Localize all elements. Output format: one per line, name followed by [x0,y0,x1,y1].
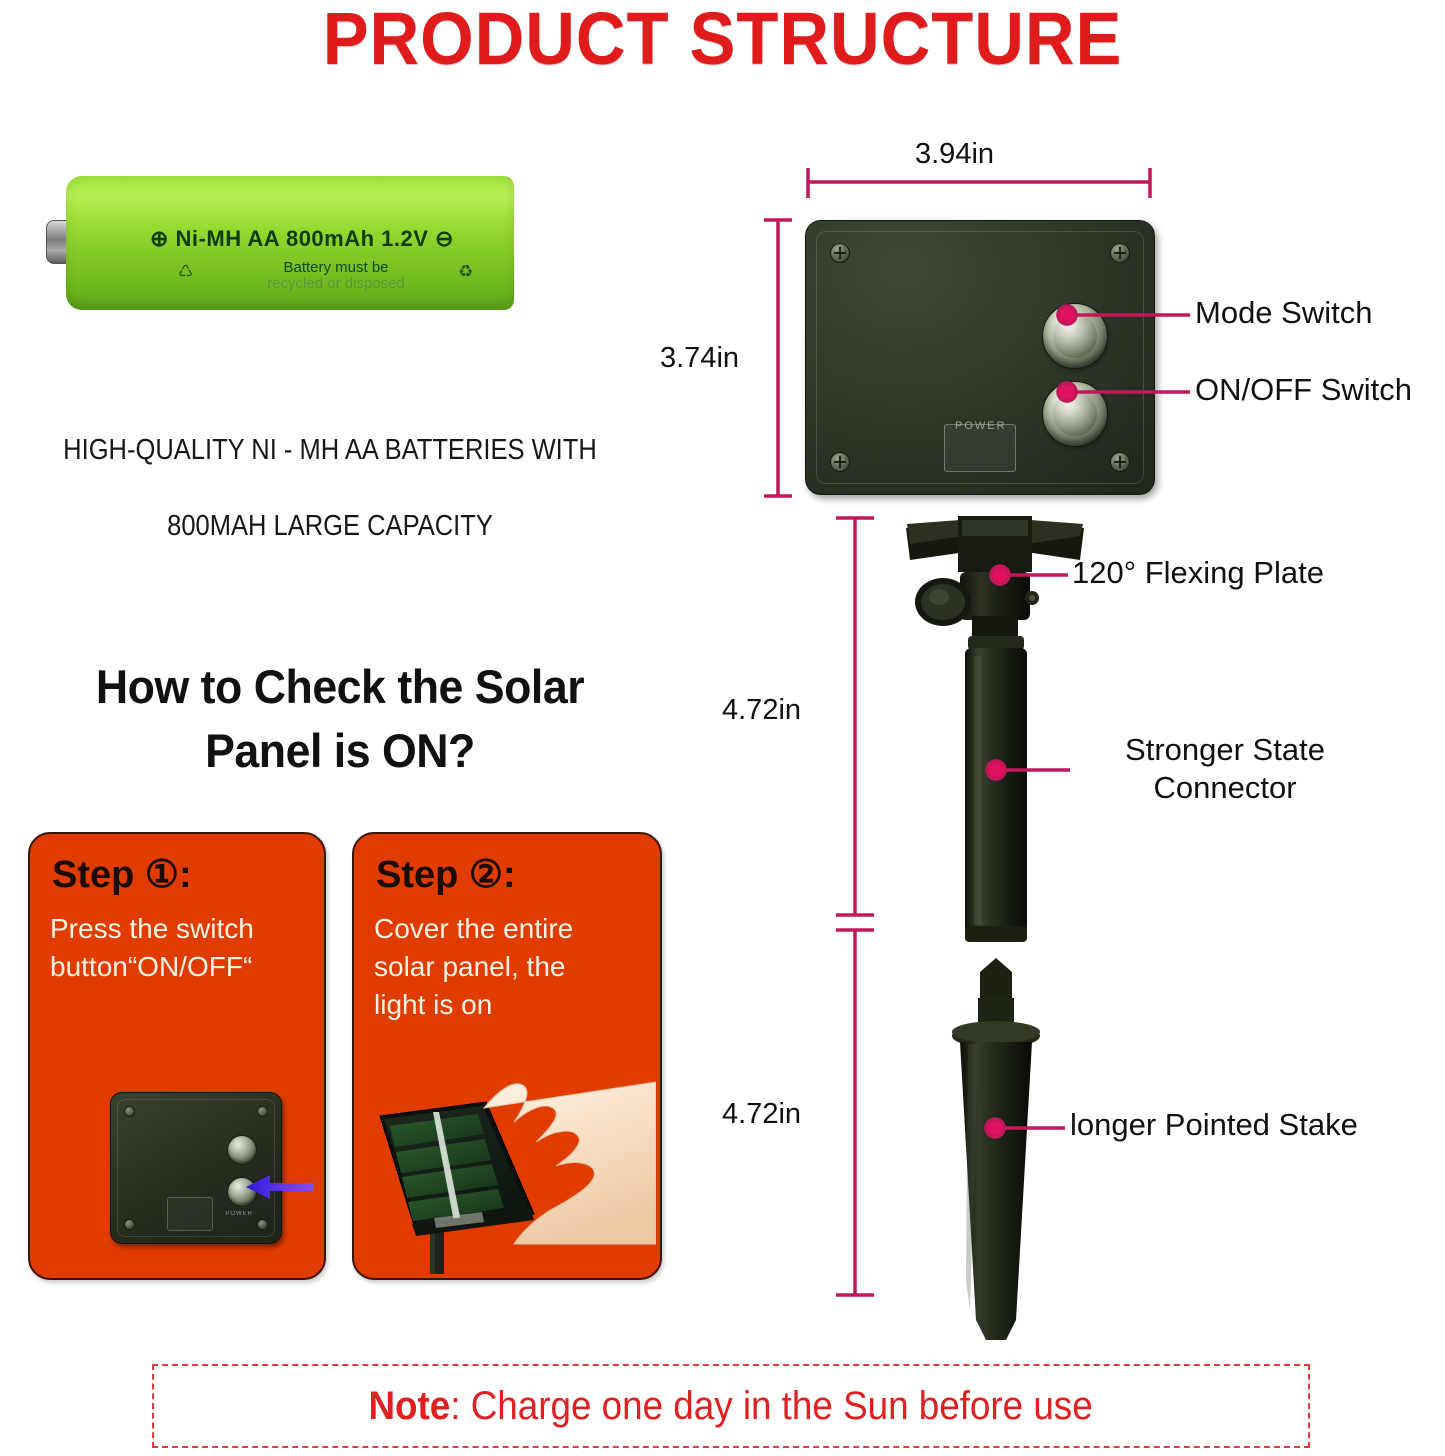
callout-onoff-switch: ON/OFF Switch [1195,371,1412,409]
callout-pointed-stake: longer Pointed Stake [1070,1106,1358,1144]
recycle-icon: ♺ [178,262,193,282]
step-1-title: Step ①: [52,852,192,897]
pole-tube [965,636,1027,942]
callout-mode-switch: Mode Switch [1195,294,1372,332]
howto-heading-line2: Panel is ON? [17,719,663,783]
battery-recycle-line2: recycled or disposed [267,275,405,292]
battery-photo: ⊕ Ni-MH AA 800mAh 1.2V ⊖ Battery must be… [38,168,518,318]
pointer-arrow-icon [244,1172,314,1202]
battery-caption-line1: HIGH-QUALITY NI - MH AA BATTERIES WITH [40,412,621,488]
howto-heading: How to Check the Solar Panel is ON? [17,655,663,783]
step-2-inset-image [364,1072,656,1274]
dimension-pole: 4.72in [722,694,801,727]
pointed-stake [952,958,1040,1340]
solar-panel-tilted-small [380,1102,534,1236]
step-1-inset-image: POWER [48,1084,310,1274]
callout-state-connector: Stronger State Connector [1075,731,1375,807]
dimension-width: 3.94in [915,138,994,171]
power-label-small: POWER [225,1211,253,1217]
battery-caption: HIGH-QUALITY NI - MH AA BATTERIES WITH 8… [40,412,621,564]
flexing-plate-bracket [906,516,1084,640]
screw-icon [124,1106,135,1117]
note-body: : Charge one day in the Sun before use [451,1384,1093,1428]
note-banner: Note: Charge one day in the Sun before u… [152,1364,1310,1448]
note-prefix: Note [369,1384,451,1428]
step-card-2: Step ②: Cover the entire solar panel, th… [352,832,662,1280]
callout-flexing-plate: 120° Flexing Plate [1072,554,1324,592]
note-text: Note: Charge one day in the Sun before u… [369,1384,1093,1429]
callout-state-connector-line2: Connector [1153,770,1296,805]
product-structure-diagram: POWER [660,120,1445,1340]
howto-heading-line1: How to Check the Solar [17,655,663,719]
step-card-1: Step ①: Press the switch button“ON/OFF“ … [28,832,326,1280]
battery-recycle-line1: Battery must be [283,259,388,276]
step-2-body-line3: light is on [374,989,492,1020]
step-2-body-line1: Cover the entire [374,913,573,944]
screw-icon [124,1219,135,1230]
battery-caption-line2: 800MAH LARGE CAPACITY [40,488,621,564]
solar-panel-back-small: POWER [110,1092,282,1244]
screw-icon [257,1106,268,1117]
screw-icon [257,1219,268,1230]
battery-compartment-slot [167,1197,213,1231]
dimension-stake: 4.72in [722,1098,801,1131]
step-1-body: Press the switch button“ON/OFF“ [50,910,325,986]
callout-state-connector-line1: Stronger State [1125,732,1325,767]
crossed-bin-icon: ♻ [458,262,473,282]
step-2-body: Cover the entire solar panel, the light … [374,910,649,1024]
step-2-body-line2: solar panel, the [374,951,565,982]
dimension-height: 3.74in [660,342,739,375]
page-title: PRODUCT STRUCTURE [51,0,1395,81]
step-1-body-line1: Press the switch [50,913,254,944]
step-1-body-line2: button“ON/OFF“ [50,951,252,982]
battery-body: ⊕ Ni-MH AA 800mAh 1.2V ⊖ Battery must be… [66,176,514,310]
battery-recycle-text: Battery must be recycled or disposed [216,260,456,292]
battery-spec-text: ⊕ Ni-MH AA 800mAh 1.2V ⊖ [150,226,510,252]
mode-switch-button-small[interactable] [227,1135,257,1165]
step-2-title: Step ②: [376,852,516,897]
